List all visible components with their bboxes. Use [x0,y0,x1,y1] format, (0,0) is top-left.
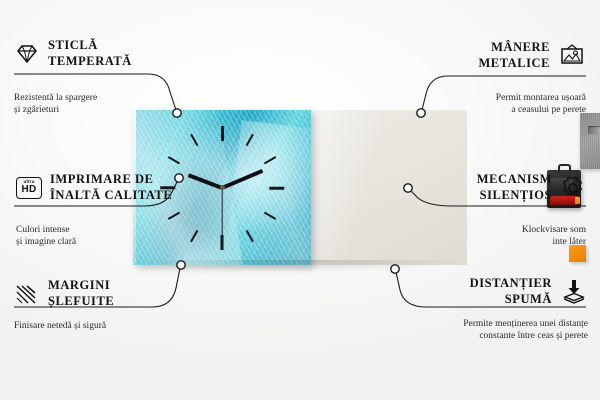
metal-hanger-plate [580,113,600,169]
callout-header: ultra HD IMPRIMARE DE ÎNALTĂ CALITATE [16,172,196,204]
product-infographic: STICLĂ TEMPERATĂ Rezistentă la spargere … [0,0,600,400]
polished-edges-icon [14,283,40,305]
callout-title: STICLĂ TEMPERATĂ [48,38,132,70]
callout-header: MÂNERE METALICE [396,40,586,72]
ultra-hd-icon: ultra HD [16,177,42,199]
callout-tempered-glass: STICLĂ TEMPERATĂ Rezistentă la spargere … [14,38,184,117]
press-foam-icon [560,279,588,305]
gear-icon [560,175,586,201]
callout-silent-mechanism: MECANISM SILENȚIOS Klockvisare som inte … [406,172,586,249]
callout-header: STICLĂ TEMPERATĂ [14,38,184,70]
callout-title: MECANISM SILENȚIOS [477,172,552,204]
callout-title: IMPRIMARE DE ÎNALTĂ CALITATE [50,172,172,204]
hanger-slot [588,126,600,134]
callout-title: MÂNERE METALICE [478,40,550,72]
callout-header: MECANISM SILENȚIOS [406,172,586,204]
hands-center-cap [220,185,225,190]
callout-high-quality-print: ultra HD IMPRIMARE DE ÎNALTĂ CALITATE Cu… [16,172,196,249]
node-foam [391,265,399,273]
callout-subtitle: Permit montarea ușoară a ceasului pe per… [396,92,586,117]
second-hand [221,188,222,240]
callout-subtitle: Rezistentă la spargere și zgârieturi [14,92,184,117]
callout-header: MARGINI ȘLEFUITE [14,278,194,310]
hanging-frame-icon [558,44,586,68]
callout-header: DISTANȚIER SPUMĂ [388,276,588,308]
callout-metal-handles: MÂNERE METALICE Permit montarea ușoară a… [396,40,586,117]
callout-subtitle: Permite menținerea unei distanțe constan… [388,318,588,343]
ultra-hd-icon-hd-label: HD [21,185,36,195]
callout-subtitle: Finisare netedă și sigură [14,320,194,333]
callout-title: DISTANȚIER SPUMĂ [470,276,552,308]
diamond-icon [14,43,40,65]
mechanism-hook [558,164,571,172]
callout-title: MARGINI ȘLEFUITE [48,278,114,310]
callout-subtitle: Culori intense și imagine clară [16,224,196,249]
callout-foam-spacer: DISTANȚIER SPUMĂ Permite menținerea unei… [388,276,588,343]
callout-polished-edges: MARGINI ȘLEFUITE Finisare netedă și sigu… [14,278,194,332]
callout-subtitle: Klockvisare som inte låter [406,224,586,249]
